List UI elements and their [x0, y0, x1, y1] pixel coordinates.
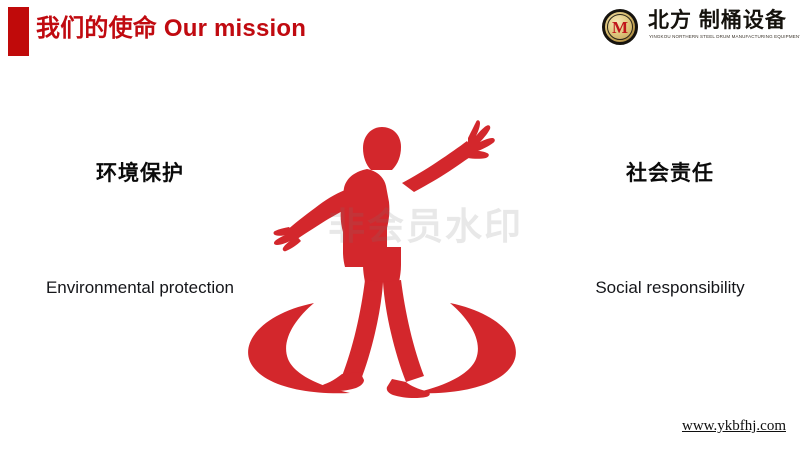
pillar-title-cn: 社会责任	[540, 160, 800, 188]
logo-emblem-inner: M	[607, 14, 633, 40]
slide: 我们的使命 Our mission M 北方 制桶设备 YINGKOU NORT…	[0, 0, 800, 450]
logo-company-name-cn: 北方 制桶设备	[648, 8, 787, 34]
page-title: 我们的使命 Our mission	[36, 12, 306, 46]
pillar-title-en: Environmental protection	[10, 276, 270, 300]
pillar-environmental-protection: 环境保护 Environmental protection	[10, 160, 270, 300]
pillar-title-cn: 环境保护	[10, 160, 270, 188]
pillar-title-en: Social responsibility	[540, 276, 800, 300]
logo-emblem-icon: M	[602, 9, 638, 45]
logo-company-name-en: YINGKOU NORTHERN STEEL DRUM MANUFACTURIN…	[649, 34, 800, 39]
website-url[interactable]: www.ykbfhj.com	[682, 416, 786, 436]
mission-illustration	[232, 100, 532, 400]
pillar-social-responsibility: 社会责任 Social responsibility	[540, 160, 800, 300]
header-accent-bar	[8, 7, 29, 56]
logo-emblem-letter: M	[612, 19, 628, 36]
company-logo: M 北方 制桶设备 YINGKOU NORTHERN STEEL DRUM MA…	[596, 6, 796, 52]
